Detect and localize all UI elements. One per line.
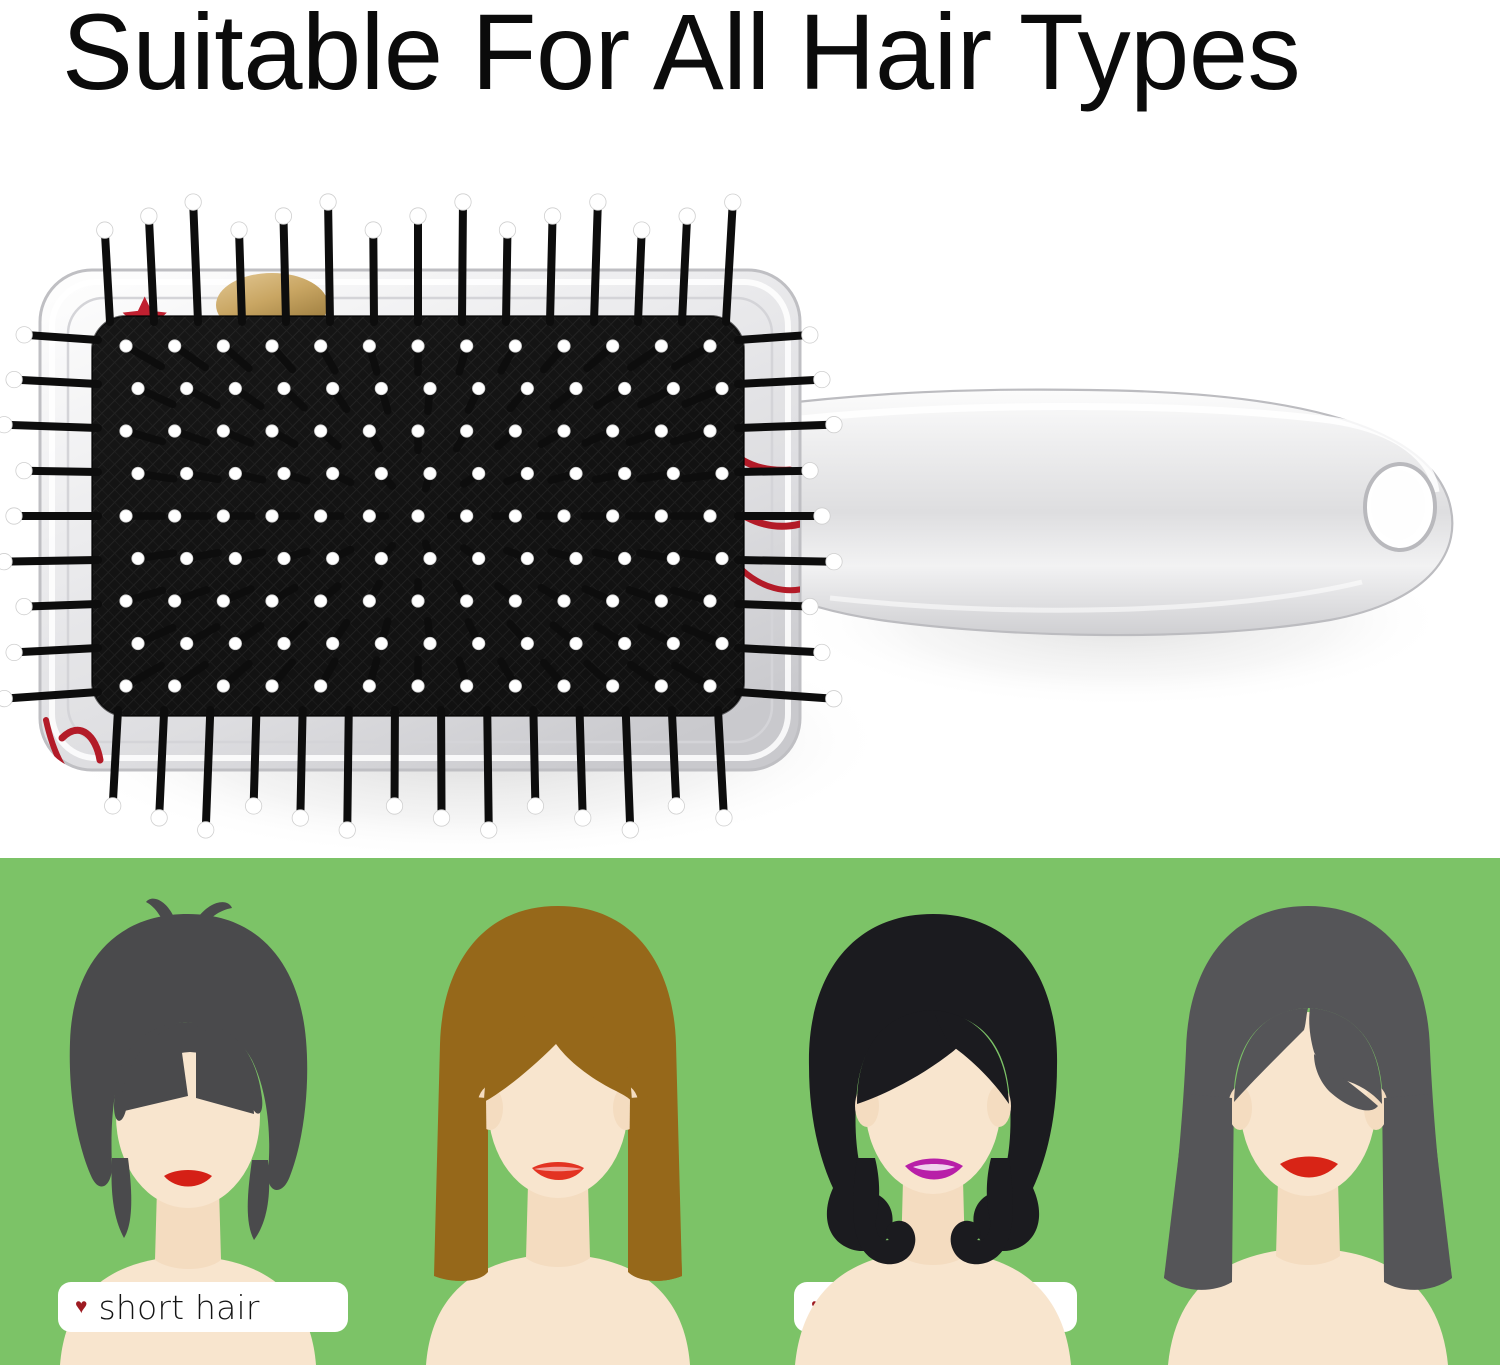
hair-type-figure-curly-hair: ♥ curly hair xyxy=(745,858,1120,1365)
curly-hair-illustration xyxy=(745,858,1120,1365)
heart-icon: ♥ xyxy=(75,1296,87,1317)
hair-type-figure-straight-hair: ♥ straight hair xyxy=(370,858,745,1365)
straight-hair-illustration xyxy=(370,858,745,1365)
product-photo-area xyxy=(0,120,1500,858)
shoulders xyxy=(795,1250,1071,1365)
product-infographic: Suitable For All Hair Types xyxy=(0,0,1500,1365)
hair-type-figure-short-hair: ♥ short hair xyxy=(0,858,375,1365)
hair-types-panel: ♥ short hair xyxy=(0,858,1500,1365)
long-hair-illustration xyxy=(1120,858,1495,1365)
page-title: Suitable For All Hair Types xyxy=(62,0,1300,113)
hair-type-label-text: short hair xyxy=(98,1288,259,1327)
hair-type-label-short-hair: ♥ short hair xyxy=(58,1282,348,1332)
hair-type-figure-long-hair: ♥ long hair xyxy=(1120,858,1495,1365)
title-banner: Suitable For All Hair Types xyxy=(0,0,1500,120)
paddle-hair-brush-image xyxy=(0,120,1500,858)
